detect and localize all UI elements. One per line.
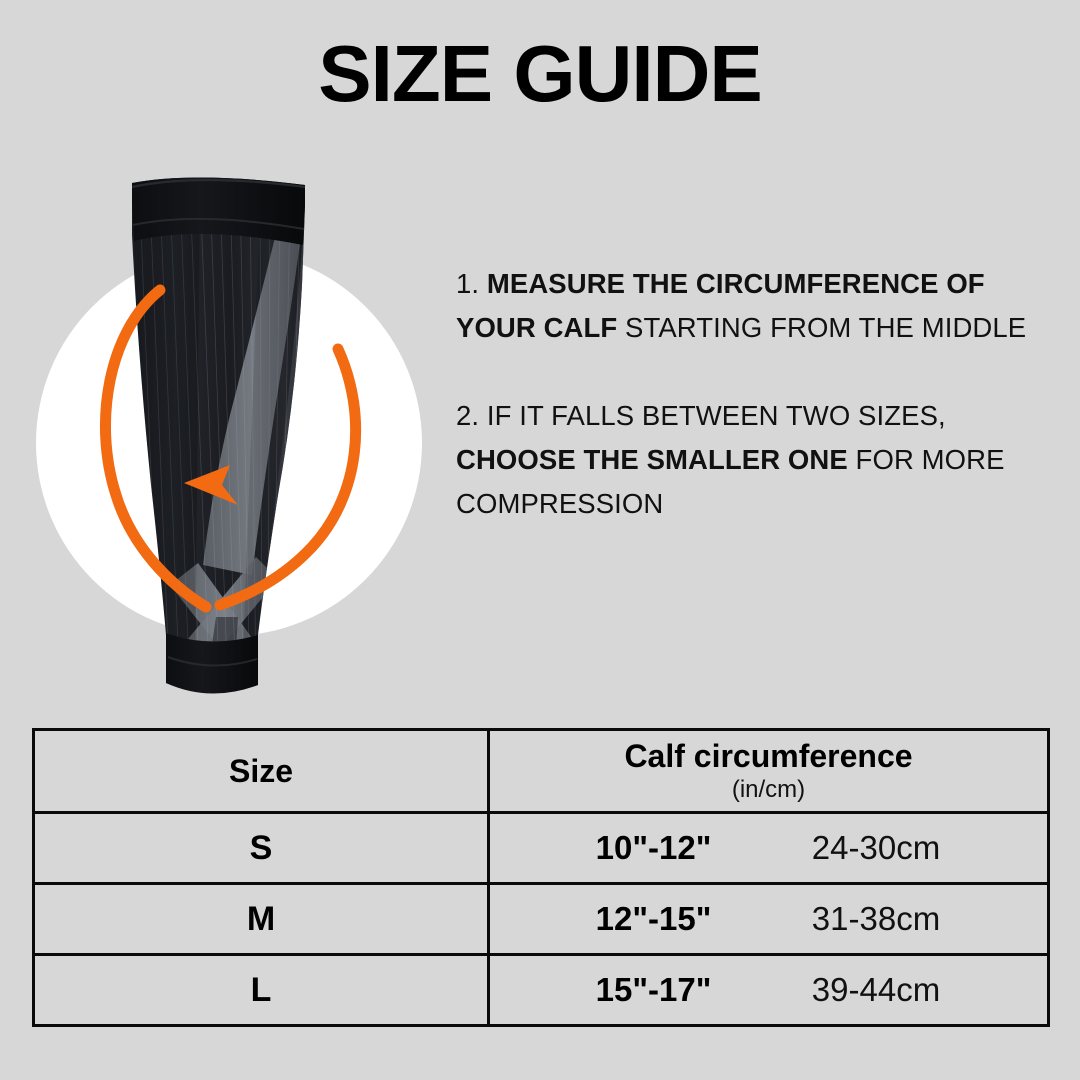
row-cm-value: 39-44cm [761,971,991,1009]
instruction-2-lead: IF IT FALLS BETWEEN TWO SIZES, [479,400,946,431]
instruction-2-number: 2. [456,400,479,431]
page-title: SIZE GUIDE [0,28,1080,120]
header-circumference-units: (in/cm) [490,775,1047,805]
product-figure [20,165,440,710]
header-circumference: Calf circumference (in/cm) [489,730,1049,813]
instruction-1-rest: STARTING FROM THE MIDDLE [617,312,1026,343]
instruction-item-2: 2. IF IT FALLS BETWEEN TWO SIZES, CHOOSE… [456,394,1056,526]
instruction-item-1: 1. MEASURE THE CIRCUMFERENCE OF YOUR CAL… [456,262,1056,350]
table-row: M 12"-15" 31-38cm [34,884,1049,955]
row-size-label: M [34,884,489,955]
size-chart-table: Size Calf circumference (in/cm) S 10"-12… [32,728,1050,1027]
row-circumference: 15"-17" 39-44cm [489,955,1049,1026]
row-inches-value: 12"-15" [546,900,761,938]
instruction-1-number: 1. [456,268,479,299]
measurement-arrow-icon [20,165,440,710]
header-circumference-main: Calf circumference [490,737,1047,775]
row-inches-value: 15"-17" [546,971,761,1009]
row-circumference: 12"-15" 31-38cm [489,884,1049,955]
row-cm-value: 31-38cm [761,900,991,938]
row-circumference: 10"-12" 24-30cm [489,813,1049,884]
table-row: S 10"-12" 24-30cm [34,813,1049,884]
row-inches-value: 10"-12" [546,829,761,867]
header-size: Size [34,730,489,813]
row-cm-value: 24-30cm [761,829,991,867]
instruction-2-bold: CHOOSE THE SMALLER ONE [456,444,848,475]
table-header-row: Size Calf circumference (in/cm) [34,730,1049,813]
row-size-label: L [34,955,489,1026]
table-row: L 15"-17" 39-44cm [34,955,1049,1026]
instructions-list: 1. MEASURE THE CIRCUMFERENCE OF YOUR CAL… [456,262,1056,526]
row-size-label: S [34,813,489,884]
